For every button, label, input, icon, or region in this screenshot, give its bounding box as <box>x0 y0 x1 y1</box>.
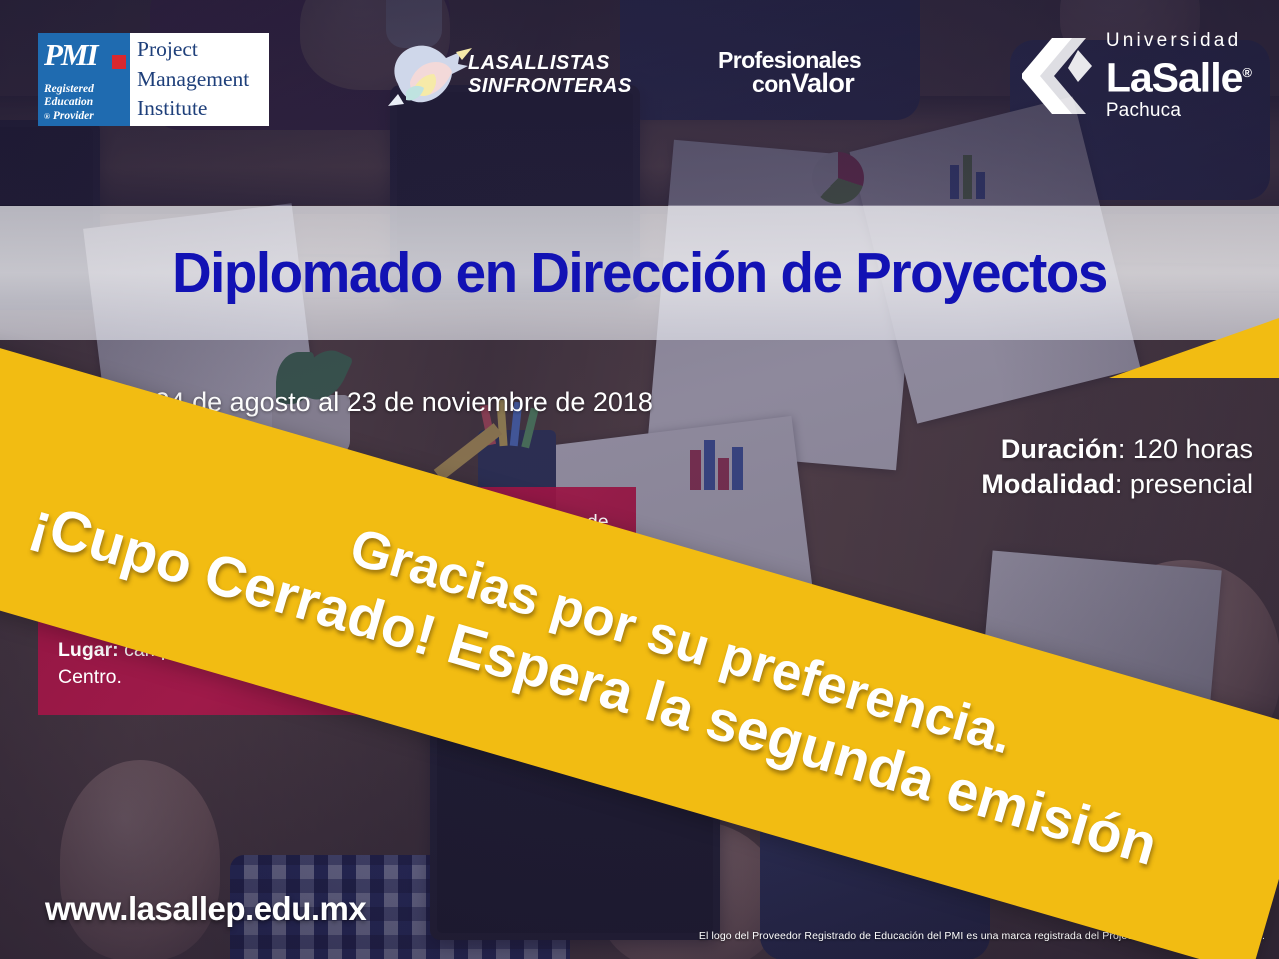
lasallistas-sin-fronteras-logo: LASALLISTAS SINFRONTERAS <box>380 30 600 120</box>
lasallistas-wordmark: LASALLISTAS SINFRONTERAS <box>468 52 632 98</box>
profesionales-con-valor-tagline: Profesionales conValor <box>718 50 861 96</box>
pmi-logo-blue-panel: PMI Registered Education ® Provider <box>38 33 130 126</box>
duracion-line: Duración: 120 horas <box>981 432 1253 467</box>
pmi-name-line1: Project <box>137 35 265 65</box>
tagline-con: con <box>752 71 791 97</box>
modalidad-value: : presencial <box>1115 469 1253 499</box>
tagline-line2: conValor <box>718 71 861 96</box>
pmi-red-square-icon <box>112 55 126 69</box>
header-logo-strip: PMI Registered Education ® Provider Proj… <box>0 0 1279 205</box>
universidad-la-salle-pachuca-logo: Universidad LaSalle® Pachuca <box>1022 30 1251 122</box>
la-salle-chevron-icon <box>1022 36 1094 118</box>
la-salle-name: LaSalle® <box>1106 52 1251 99</box>
universidad-label: Universidad <box>1106 30 1251 52</box>
pmi-registered-education-provider-logo: PMI Registered Education ® Provider Proj… <box>38 33 269 126</box>
registered-mark-icon: ® <box>1242 65 1251 80</box>
pmi-name-line2: Management <box>137 65 265 95</box>
course-specs: Duración: 120 horas Modalidad: presencia… <box>981 432 1253 502</box>
pmi-institute-name: Project Management Institute <box>130 33 269 126</box>
campus-city-label: Pachuca <box>1106 99 1251 122</box>
pmi-rep-line2: Education <box>44 96 130 110</box>
duracion-value: : 120 horas <box>1118 434 1253 464</box>
page-title: Diplomado en Dirección de Proyectos <box>26 240 1254 306</box>
pmi-rep-line3: ® Provider <box>44 110 130 124</box>
tagline-valor: Valor <box>791 68 854 98</box>
website-url[interactable]: www.lasallep.edu.mx <box>45 890 366 928</box>
la-salle-text: LaSalle <box>1106 55 1243 101</box>
pmi-rep-provider-label: Provider <box>53 110 94 122</box>
universidad-wordmark: Universidad LaSalle® Pachuca <box>1106 30 1251 122</box>
title-band: Diplomado en Dirección de Proyectos <box>0 206 1279 340</box>
dove-icon <box>380 30 480 122</box>
lasallistas-line1: LASALLISTAS <box>468 52 632 75</box>
modalidad-label: Modalidad <box>981 469 1115 499</box>
duracion-label: Duración <box>1001 434 1118 464</box>
pmi-name-line3: Institute <box>137 94 265 124</box>
modalidad-line: Modalidad: presencial <box>981 467 1253 502</box>
poster-root: PMI Registered Education ® Provider Proj… <box>0 0 1279 959</box>
lasallistas-line2: SINFRONTERAS <box>468 75 632 98</box>
registered-trademark-icon: ® <box>44 112 50 121</box>
pmi-rep-line1: Registered <box>44 83 130 97</box>
